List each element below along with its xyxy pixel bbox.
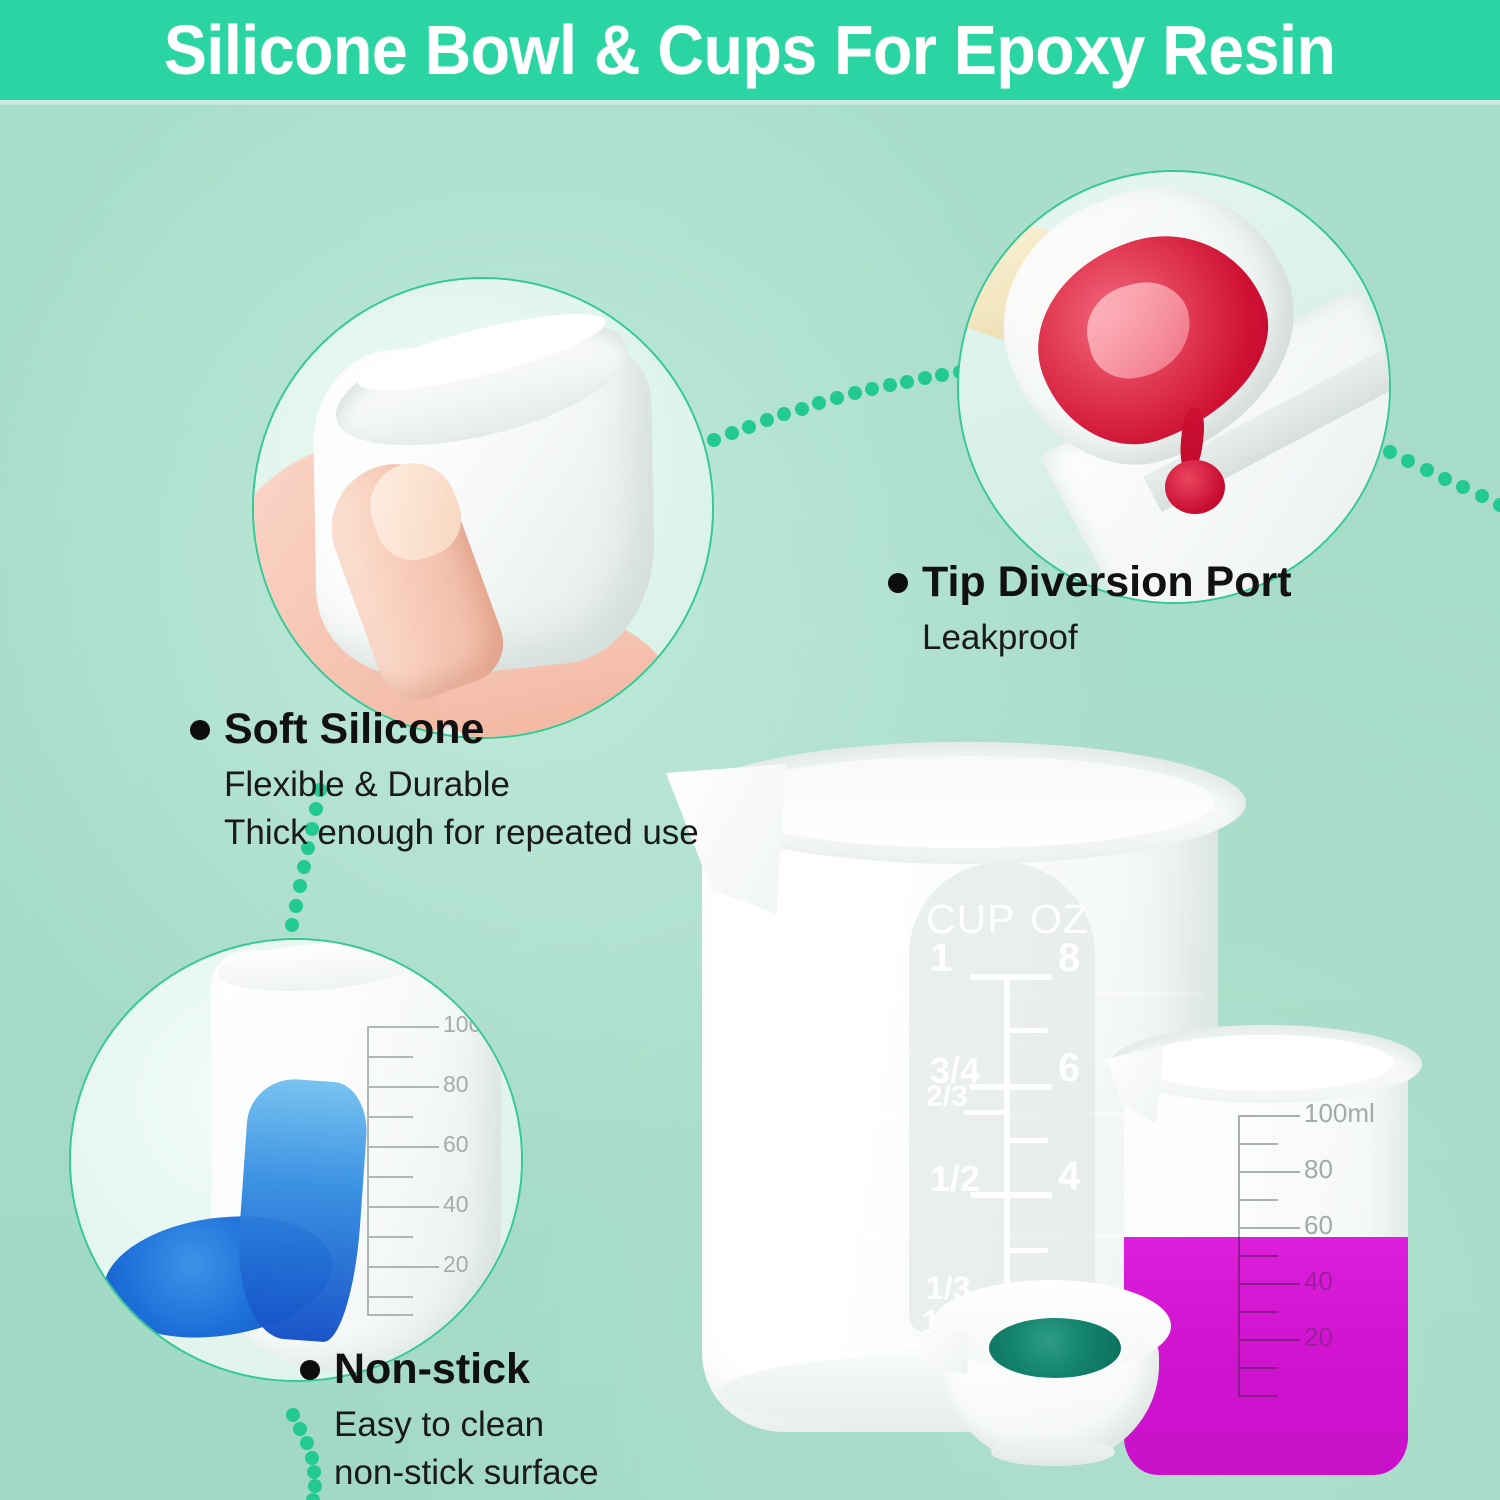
scale-label: 20 bbox=[1304, 1322, 1333, 1353]
scale-tick bbox=[1238, 1199, 1278, 1201]
scale-tick bbox=[367, 1236, 413, 1238]
callout-line: Flexible & Durable bbox=[224, 762, 699, 808]
scale-tick bbox=[1238, 1143, 1278, 1145]
scale-tick bbox=[1238, 1339, 1300, 1341]
connector-dot bbox=[725, 426, 739, 440]
connector-dot bbox=[848, 386, 862, 400]
scale-tick bbox=[367, 1266, 439, 1268]
header-divider bbox=[0, 100, 1500, 105]
connector-dot bbox=[285, 918, 299, 932]
scale-major-tick bbox=[970, 1192, 1052, 1198]
scale-label-oz: 4 bbox=[1058, 1154, 1080, 1199]
cup-interior bbox=[718, 756, 1214, 848]
connector-dot bbox=[286, 1408, 300, 1422]
scale-label-cup: 1/2 bbox=[930, 1158, 980, 1200]
scale-tick bbox=[1238, 1255, 1278, 1257]
connector-dot bbox=[830, 391, 844, 405]
scale-minor-tick bbox=[964, 1110, 1010, 1115]
connector-dot bbox=[1475, 489, 1489, 503]
scale-label: 100ml bbox=[1304, 1098, 1375, 1129]
scale-minor-tick bbox=[1004, 1248, 1048, 1253]
scale-tick bbox=[1238, 1395, 1278, 1397]
product-infographic: Silicone Bowl & Cups For Epoxy Resin bbox=[0, 0, 1500, 1500]
callout-title: Non-stick bbox=[334, 1345, 530, 1394]
scale-tick bbox=[367, 1026, 439, 1028]
scale-label-cup: 2/3 bbox=[926, 1080, 968, 1114]
feature-image-tip-diversion-port bbox=[957, 170, 1391, 604]
scale-tick bbox=[367, 1056, 413, 1058]
scale-label: 80 bbox=[443, 1071, 469, 1098]
bullet-icon bbox=[888, 573, 908, 593]
scale-tick bbox=[1238, 1311, 1278, 1313]
callout-line: Easy to clean bbox=[334, 1402, 599, 1448]
scale-label-cup: 1 bbox=[930, 936, 952, 981]
scale-tick bbox=[1238, 1367, 1278, 1369]
callout-line: non-stick surface bbox=[334, 1450, 599, 1496]
callout-soft-silicone: Soft Silicone Flexible & Durable Thick e… bbox=[190, 705, 699, 856]
scale-spine bbox=[1238, 1237, 1240, 1395]
scale-tick bbox=[367, 1296, 413, 1298]
scale-major-tick bbox=[970, 1084, 1052, 1090]
scale-label: 20 bbox=[443, 1251, 469, 1278]
scale-label: 60 bbox=[443, 1131, 469, 1158]
scale-minor-tick bbox=[1004, 1138, 1048, 1143]
scale-tick bbox=[367, 1206, 439, 1208]
scale-label-oz: 8 bbox=[1058, 936, 1080, 981]
scale-label: 40 bbox=[1304, 1266, 1333, 1297]
scale-tick bbox=[367, 1146, 439, 1148]
header-banner: Silicone Bowl & Cups For Epoxy Resin bbox=[0, 0, 1500, 100]
connector-dot bbox=[918, 371, 932, 385]
cup-interior bbox=[1136, 1035, 1394, 1091]
feature-image-non-stick: 100ml80604020 bbox=[69, 938, 523, 1382]
scale-tick bbox=[367, 1176, 413, 1178]
callout-heading: Soft Silicone bbox=[190, 705, 699, 754]
scale-tick bbox=[367, 1116, 413, 1118]
connector-dot bbox=[1493, 498, 1500, 512]
callout-heading: Non-stick bbox=[300, 1345, 599, 1394]
callout-line: Thick enough for repeated use bbox=[224, 810, 699, 856]
scale-minor-tick bbox=[1004, 1028, 1048, 1033]
callout-tip-diversion-port: Tip Diversion Port Leakproof bbox=[888, 558, 1292, 661]
scale-tick bbox=[1238, 1115, 1300, 1117]
scale-label: 60 bbox=[1304, 1210, 1333, 1241]
green-resin bbox=[989, 1318, 1121, 1378]
scale-tick bbox=[1238, 1283, 1300, 1285]
scale-tick bbox=[367, 1086, 439, 1088]
scale-label: 80 bbox=[1304, 1154, 1333, 1185]
callout-line: Leakproof bbox=[922, 615, 1292, 661]
connector-dot bbox=[900, 375, 914, 389]
scale-label-oz: 6 bbox=[1058, 1046, 1080, 1091]
scale-spine bbox=[367, 1026, 369, 1314]
bullet-icon bbox=[190, 720, 210, 740]
connector-dot bbox=[289, 899, 303, 913]
callout-heading: Tip Diversion Port bbox=[888, 558, 1292, 607]
callout-title: Soft Silicone bbox=[224, 705, 484, 754]
connector-dot bbox=[742, 420, 756, 434]
callout-title: Tip Diversion Port bbox=[922, 558, 1292, 607]
page-title: Silicone Bowl & Cups For Epoxy Resin bbox=[164, 10, 1335, 90]
scale-tick bbox=[1238, 1227, 1300, 1229]
scale-spine bbox=[1238, 1115, 1240, 1237]
scale-label: 100ml bbox=[443, 1011, 506, 1038]
scale-tick bbox=[1238, 1171, 1300, 1173]
mini-silicone-bowl bbox=[915, 1272, 1187, 1482]
connector-dot bbox=[795, 402, 809, 416]
callout-non-stick: Non-stick Easy to clean non-stick surfac… bbox=[300, 1345, 599, 1496]
resin-droplet bbox=[1165, 460, 1225, 514]
scale-tick bbox=[367, 1314, 413, 1316]
feature-image-soft-silicone bbox=[252, 277, 714, 739]
bullet-icon bbox=[300, 1360, 320, 1380]
connector-dot bbox=[1438, 472, 1452, 486]
scale-major-tick bbox=[970, 974, 1052, 980]
connector-dot bbox=[1420, 463, 1434, 477]
scale-label: 40 bbox=[443, 1191, 469, 1218]
bowl-foot bbox=[991, 1438, 1115, 1466]
connector-dot bbox=[883, 378, 897, 392]
